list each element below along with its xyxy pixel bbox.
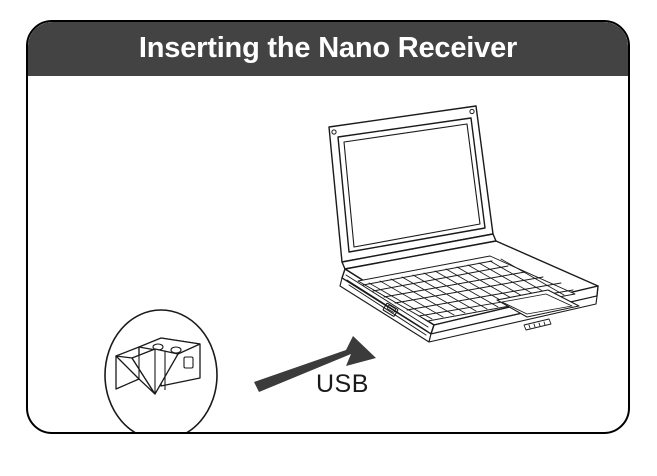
page-title: Inserting the Nano Receiver (139, 32, 517, 65)
panel-body: USB (28, 76, 628, 432)
laptop-indicator-lights (524, 319, 551, 330)
panel-header: Inserting the Nano Receiver (28, 22, 628, 76)
laptop (329, 106, 598, 342)
usb-label: USB (316, 370, 369, 399)
instruction-panel: Inserting the Nano Receiver (26, 20, 630, 434)
nano-receiver-callout (105, 310, 217, 434)
